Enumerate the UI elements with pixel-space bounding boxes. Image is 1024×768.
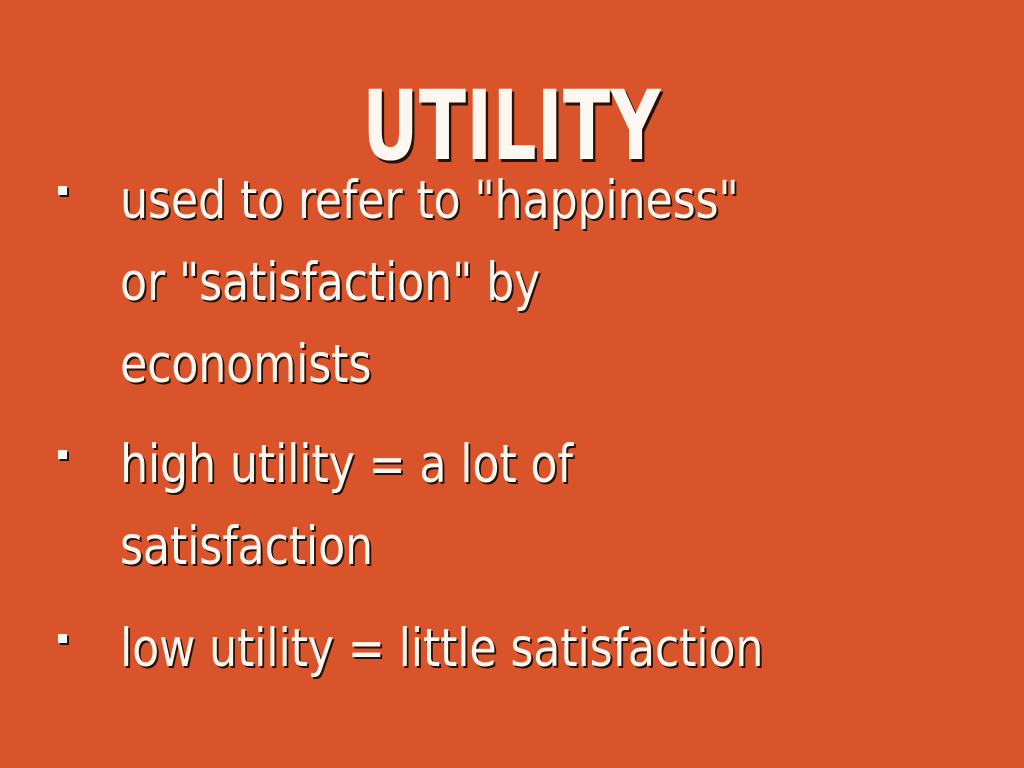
list-item: high utility = a lot of satisfaction xyxy=(46,424,986,588)
square-bullet-icon xyxy=(46,424,120,459)
slide-body-bullet-list: used to refer to "happiness" or "satisfa… xyxy=(46,160,986,690)
list-item-text: high utility = a lot of satisfaction xyxy=(120,424,925,588)
list-item: low utility = little satisfaction xyxy=(46,608,986,690)
list-item-text: used to refer to "happiness" or "satisfa… xyxy=(120,160,925,406)
square-bullet-icon xyxy=(46,160,120,195)
list-item: used to refer to "happiness" or "satisfa… xyxy=(46,160,986,406)
list-item-text: low utility = little satisfaction xyxy=(120,608,925,690)
square-bullet-icon xyxy=(46,608,120,643)
presentation-slide: UTILITY used to refer to "happiness" or … xyxy=(0,0,1024,768)
